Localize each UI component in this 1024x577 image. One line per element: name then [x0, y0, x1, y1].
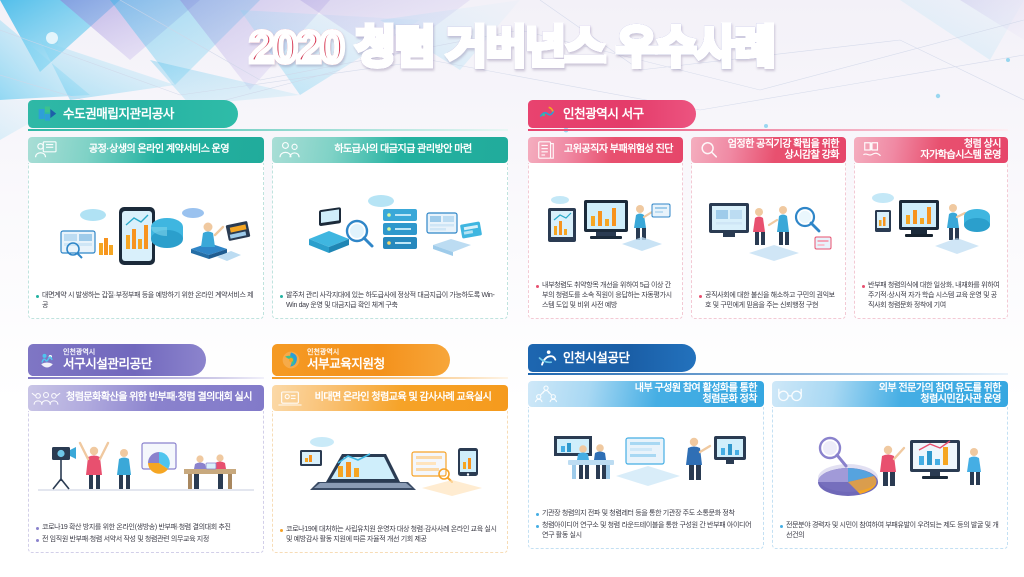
bullet-item: 반부패 청렴의식에 대한 일상화, 내재화를 위하여 주기적·상시적 자가 학습… [862, 281, 1000, 311]
bullet-dot-icon [36, 295, 39, 298]
card-head-seogu-3: 청렴 상시 자가학습시스템 운영 [854, 137, 1008, 163]
card-text-swlc-2: 발주처 관리 사각지대에 있는 하도급사에 정상적 대금지급이 가능하도록 Wi… [273, 287, 507, 318]
contract-person-icon [31, 140, 61, 160]
incheon-facility-logo-icon [537, 348, 557, 368]
bullet-dot-icon [36, 527, 39, 530]
org-name-incheon-facility: 인천시설공단 [563, 351, 630, 365]
card-seogu-1[interactable]: 고위공직자 부패위험성 진단 [528, 137, 683, 319]
card-body-seogu-facility-1: 코로나19 확산 방지를 위한 온라인(생방송) 반부패·청렴 결의대회 추진 … [28, 411, 264, 553]
page-title: 2020청렴거버넌스우수사례 [0, 14, 1024, 82]
bullet-item: 발주처 관리 사각지대에 있는 하도급사에 정상적 대금지급이 가능하도록 Wi… [280, 291, 500, 311]
bullet-item: 청렴아이디어 연구소 및 청렴 라운드테이블을 통한 구성원 간 반부패 아이디… [536, 521, 756, 541]
org-banner-seogu-facility: 인천광역시 서구시설관리공단 [28, 344, 206, 376]
card-head-incheon-facility-2: 외부 전문가의 참여 유도를 위한 청렴시민감사관 운영 [772, 381, 1008, 407]
section-seo-gu: 인천광역시 서구 고위공직자 부패위험성 진단 [528, 100, 1008, 318]
isometric-server-search [273, 163, 507, 287]
bullet-text: 대면계약 시 발생하는 갑질·부정부패 등을 예방하기 위한 온라인 계약서비스… [42, 291, 256, 311]
org-sub-west-edu: 인천광역시 [307, 349, 385, 357]
card-swlc-1[interactable]: 공정·상생의 온라인 계약서비스 운영 [28, 137, 264, 319]
bullet-dot-icon [280, 529, 283, 532]
org-name-swlc: 수도권매립지관리공사 [63, 107, 174, 121]
card-body-seogu-2: 공직사회에 대한 불신을 해소하고 구민의 권익보호 및 구민에게 믿음을 주는… [691, 163, 846, 319]
title-part-1: 청렴 [356, 23, 435, 72]
bullet-text: 공직사회에 대한 불신을 해소하고 구민의 권익보호 및 구민에게 믿음을 주는… [705, 291, 838, 311]
card-text-swlc-1: 대면계약 시 발생하는 갑질·부정부패 등을 예방하기 위한 온라인 계약서비스… [29, 287, 263, 318]
isometric-inspection-people [692, 163, 845, 287]
org-name-seogu-facility: 서구시설관리공단 [63, 357, 152, 371]
bullet-item: 공직사회에 대한 불신을 해소하고 구민의 권익보호 및 구민에게 믿음을 주는… [699, 291, 838, 311]
card-incheon-facility-2[interactable]: 외부 전문가의 참여 유도를 위한 청렴시민감사관 운영 [772, 381, 1008, 549]
card-label-swlc-2: 하도급사의 대금지급 관리방안 마련 [305, 144, 508, 155]
section-swlc: 수도권매립지관리공사 공정·상생의 온라인 계약서비스 운영 [28, 100, 508, 318]
card-seogu-3[interactable]: 청렴 상시 자가학습시스템 운영 [854, 137, 1008, 319]
bullet-item: 전문분야 경력자 및 시민이 참여하여 부패유발이 우려되는 제도 등의 발굴 … [780, 521, 1000, 541]
bullet-dot-icon [536, 513, 539, 516]
bullet-text: 기관장 청렴의지 전파 및 청렴레터 등을 통한 기관장 주도 소통문화 정착 [542, 509, 735, 519]
card-body-west-edu-1: 코로나19에 대처하는 사립유치원 운영자 대상 청렴·감사사례 온라인 교육 … [272, 411, 508, 553]
title-part-3: 우수사례 [616, 23, 774, 72]
document-list-icon [531, 140, 561, 160]
isometric-office-meeting [529, 407, 763, 505]
bullet-text: 내부청렴도 취약항목 개선을 위하여 5급 이상 간부의 청렴도를 소속 직원이… [542, 281, 675, 311]
card-head-seogu-1: 고위공직자 부패위험성 진단 [528, 137, 683, 163]
org-banner-west-edu: 인천광역시 서부교육지원청 [272, 344, 450, 376]
card-body-swlc-1: 대면계약 시 발생하는 갑질·부정부패 등을 예방하기 위한 온라인 계약서비스… [28, 163, 264, 319]
org-sub-seogu-facility: 인천광역시 [63, 349, 152, 357]
two-people-icon [275, 140, 305, 160]
card-head-swlc-2: 하도급사의 대금지급 관리방안 마련 [272, 137, 508, 163]
west-edu-logo-icon [281, 350, 301, 370]
bullet-text: 코로나19에 대처하는 사립유치원 운영자 대상 청렴·감사사례 온라인 교육 … [286, 525, 500, 545]
seogu-logo-icon [537, 104, 557, 124]
isometric-laptop-online-class [273, 411, 507, 521]
card-text-incheon-facility-2: 전문분야 경력자 및 시민이 참여하여 부패유발이 우려되는 제도 등의 발굴 … [773, 517, 1007, 548]
org-rule-incheon-facility [528, 373, 1008, 375]
card-west-edu-1[interactable]: 비대면 온라인 청렴교육 및 감사사례 교육실시 [272, 385, 508, 553]
bullet-text: 발주처 관리 사각지대에 있는 하도급사에 정상적 대금지급이 가능하도록 Wi… [286, 291, 500, 311]
card-seogu-facility-1[interactable]: 청렴문화확산을 위한 반부패·청렴 결의대회 실시 [28, 385, 264, 553]
org-banner-incheon-facility: 인천시설공단 [528, 344, 696, 372]
bullet-dot-icon [780, 525, 783, 528]
card-label-seogu-1: 고위공직자 부패위험성 진단 [561, 144, 683, 155]
bullet-text: 코로나19 확산 방지를 위한 온라인(생방송) 반부패·청렴 결의대회 추진 [42, 523, 231, 533]
card-body-incheon-facility-2: 전문분야 경력자 및 시민이 참여하여 부패유발이 우려되는 제도 등의 발굴 … [772, 407, 1008, 549]
book-hand-icon [857, 140, 887, 160]
org-name-west-edu: 서부교육지원청 [307, 357, 385, 371]
org-name-seo-gu: 인천광역시 서구 [563, 107, 644, 121]
bullet-item: 코로나19 확산 방지를 위한 온라인(생방송) 반부패·청렴 결의대회 추진 [36, 523, 256, 533]
org-rule-seogu-facility [28, 377, 264, 379]
laptop-person-icon [275, 389, 305, 408]
bullet-dot-icon [862, 285, 865, 288]
bullet-item: 기관장 청렴의지 전파 및 청렴레터 등을 통한 기관장 주도 소통문화 정착 [536, 509, 756, 519]
card-head-west-edu-1: 비대면 온라인 청렴교육 및 감사사례 교육실시 [272, 385, 508, 411]
org-rule-seo-gu [528, 129, 1008, 131]
card-label-incheon-facility-1: 내부 구성원 참여 활성화를 통한 청렴문화 정착 [561, 383, 764, 405]
bullet-item: 내부청렴도 취약항목 개선을 위하여 5급 이상 간부의 청렴도를 소속 직원이… [536, 281, 675, 311]
card-text-west-edu-1: 코로나19에 대처하는 사립유치원 운영자 대상 청렴·감사사례 온라인 교육 … [273, 521, 507, 552]
bullet-item: 전 임직원 반부패·청렴 서약서 작성 및 청렴관련 의무교육 지정 [36, 535, 256, 545]
card-label-west-edu-1: 비대면 온라인 청렴교육 및 감사사례 교육실시 [305, 392, 508, 403]
bullet-dot-icon [699, 295, 702, 298]
card-head-seogu-facility-1: 청렴문화확산을 위한 반부패·청렴 결의대회 실시 [28, 385, 264, 411]
bullet-text: 청렴아이디어 연구소 및 청렴 라운드테이블을 통한 구성원 간 반부패 아이디… [542, 521, 756, 541]
card-text-seogu-1: 내부청렴도 취약항목 개선을 위하여 5급 이상 간부의 청렴도를 소속 직원이… [529, 277, 682, 318]
section-west-edu: 인천광역시 서부교육지원청 비대면 온라인 청렴교육 및 감사사례 교육실시 [272, 344, 508, 554]
card-body-swlc-2: 발주처 관리 사각지대에 있는 하도급사에 정상적 대금지급이 가능하도록 Wi… [272, 163, 508, 319]
card-body-incheon-facility-1: 기관장 청렴의지 전파 및 청렴레터 등을 통한 기관장 주도 소통문화 정착 … [528, 407, 764, 549]
bullet-text: 전 임직원 반부패·청렴 서약서 작성 및 청렴관련 의무교육 지정 [42, 535, 209, 545]
bullet-text: 전문분야 경력자 및 시민이 참여하여 부패유발이 우려되는 제도 등의 발굴 … [786, 521, 1000, 541]
isometric-monitor-data [529, 163, 682, 277]
card-label-seogu-3: 청렴 상시 자가학습시스템 운영 [887, 139, 1008, 161]
bullet-dot-icon [536, 285, 539, 288]
bullet-item: 대면계약 시 발생하는 갑질·부정부패 등을 예방하기 위한 온라인 계약서비스… [36, 291, 256, 311]
card-text-seogu-2: 공직사회에 대한 불신을 해소하고 구민의 권익보호 및 구민에게 믿음을 주는… [692, 287, 845, 318]
title-year: 2020 [250, 23, 344, 72]
card-body-seogu-1: 내부청렴도 취약항목 개선을 위하여 5급 이상 간부의 청렴도를 소속 직원이… [528, 163, 683, 319]
section-incheon-facility: 인천시설공단 내부 구성원 참여 활성화를 통한 청렴문화 정착 [528, 344, 1008, 554]
glasses-icon [775, 385, 805, 403]
isometric-mobile-analytics [29, 163, 263, 287]
card-text-incheon-facility-1: 기관장 청렴의지 전파 및 청렴레터 등을 통한 기관장 주도 소통문화 정착 … [529, 505, 763, 548]
org-rule-west-edu [272, 377, 508, 379]
card-label-seogu-2: 엄정한 공직기강 확립을 위한 상시감찰 강화 [724, 139, 846, 161]
org-banner-swlc: 수도권매립지관리공사 [28, 100, 238, 128]
isometric-audit-piechart [773, 407, 1007, 517]
org-banner-seo-gu: 인천광역시 서구 [528, 100, 696, 128]
bullet-dot-icon [280, 295, 283, 298]
seogu-facility-logo-icon [37, 350, 57, 370]
bullet-item: 코로나19에 대처하는 사립유치원 운영자 대상 청렴·감사사례 온라인 교육 … [280, 525, 500, 545]
card-swlc-2[interactable]: 하도급사의 대금지급 관리방안 마련 [272, 137, 508, 319]
org-rule-swlc [28, 129, 508, 131]
magnifier-icon [694, 140, 724, 160]
isometric-learning-chart [855, 163, 1007, 277]
card-label-incheon-facility-2: 외부 전문가의 참여 유도를 위한 청렴시민감사관 운영 [805, 383, 1008, 405]
card-head-incheon-facility-1: 내부 구성원 참여 활성화를 통한 청렴문화 정착 [528, 381, 764, 407]
card-text-seogu-facility-1: 코로나19 확산 방지를 위한 온라인(생방송) 반부패·청렴 결의대회 추진 … [29, 519, 263, 552]
card-head-seogu-2: 엄정한 공직기강 확립을 위한 상시감찰 강화 [691, 137, 846, 163]
card-body-seogu-3: 반부패 청렴의식에 대한 일상화, 내재화를 위하여 주기적·상시적 자가 학습… [854, 163, 1008, 319]
card-head-swlc-1: 공정·상생의 온라인 계약서비스 운영 [28, 137, 264, 163]
people-network-icon [531, 384, 561, 404]
card-label-seogu-facility-1: 청렴문화확산을 위한 반부패·청렴 결의대회 실시 [61, 392, 264, 403]
group-people-icon [31, 389, 61, 408]
isometric-broadcast-meeting [29, 411, 263, 519]
title-part-2: 거버넌스 [447, 23, 605, 72]
card-label-swlc-1: 공정·상생의 온라인 계약서비스 운영 [61, 144, 264, 155]
bullet-dot-icon [536, 525, 539, 528]
swlc-logo-icon [37, 104, 57, 124]
section-seogu-facility: 인천광역시 서구시설관리공단 청렴문화확산을 위한 반부패·청렴 결의대회 실시 [28, 344, 264, 554]
bullet-dot-icon [36, 539, 39, 542]
card-seogu-2[interactable]: 엄정한 공직기강 확립을 위한 상시감찰 강화 [691, 137, 846, 319]
bullet-text: 반부패 청렴의식에 대한 일상화, 내재화를 위하여 주기적·상시적 자가 학습… [868, 281, 1000, 311]
card-incheon-facility-1[interactable]: 내부 구성원 참여 활성화를 통한 청렴문화 정착 [528, 381, 764, 549]
card-text-seogu-3: 반부패 청렴의식에 대한 일상화, 내재화를 위하여 주기적·상시적 자가 학습… [855, 277, 1007, 318]
